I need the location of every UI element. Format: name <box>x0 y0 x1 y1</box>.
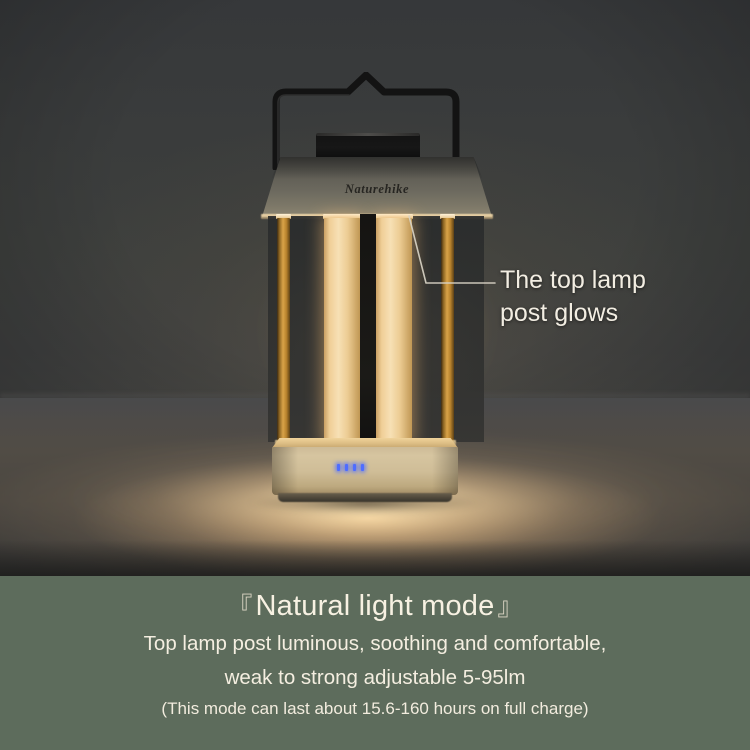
caption-line-1: Top lamp post luminous, soothing and com… <box>0 632 750 656</box>
caption-title-row: 『Natural light mode』 <box>0 587 750 623</box>
caption-panel: 『Natural light mode』 Top lamp post lumin… <box>0 576 750 750</box>
corner-bracket-open-icon: 『 <box>224 593 255 621</box>
callout-line-2: post glows <box>500 297 730 330</box>
corner-bracket-close-icon: 』 <box>494 593 525 621</box>
product-photo: Naturehike <box>0 0 750 576</box>
caption-title: Natural light mode <box>256 590 495 622</box>
callout-line-1: The top lamp <box>500 264 730 297</box>
caption-note: (This mode can last about 15.6-160 hours… <box>0 699 750 719</box>
product-image-slide: Naturehike <box>0 0 750 750</box>
caption-line-2: weak to strong adjustable 5-95lm <box>0 666 750 690</box>
callout-label: The top lamp post glows <box>500 264 730 330</box>
